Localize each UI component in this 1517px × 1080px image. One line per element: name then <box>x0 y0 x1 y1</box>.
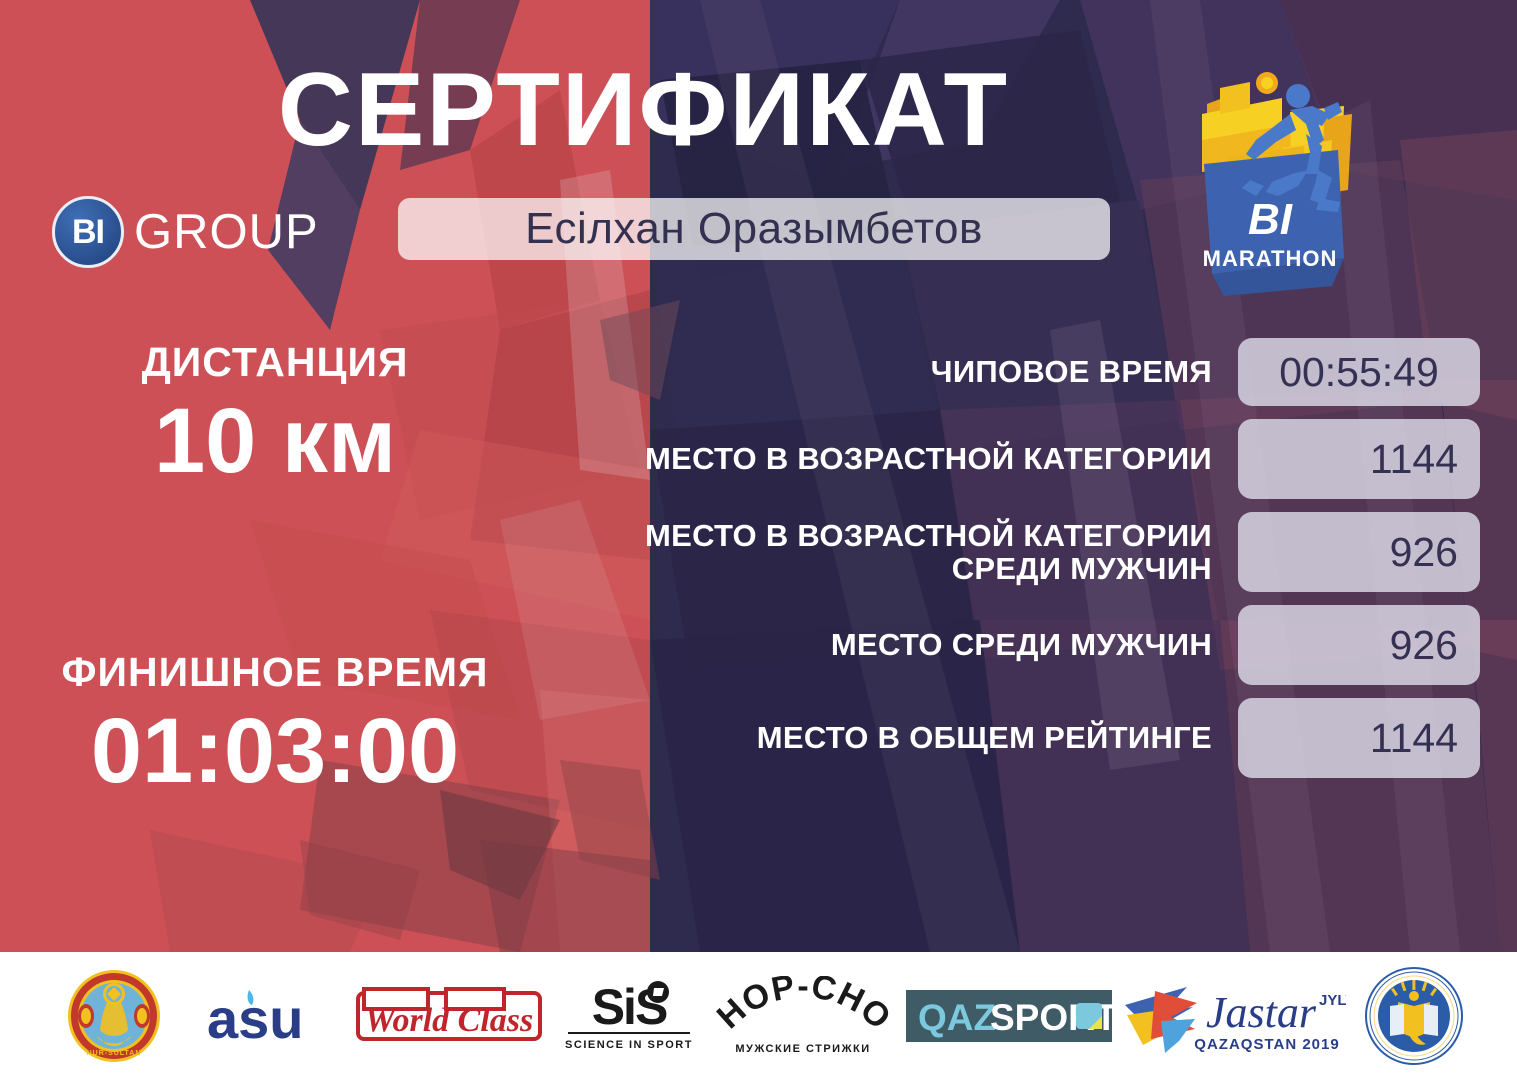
sponsor-logo-sis: SiS SCIENCE IN SPORT <box>549 966 709 1066</box>
result-label: МЕСТО СРЕДИ МУЖЧИН <box>600 628 1238 661</box>
finish-time-block: ФИНИШНОЕ ВРЕМЯ 01:03:00 <box>20 650 530 801</box>
result-value: 1144 <box>1238 419 1480 499</box>
result-value: 00:55:49 <box>1238 338 1480 406</box>
result-label: ЧИПОВОЕ ВРЕМЯ <box>600 355 1238 388</box>
chop-chop-text: CHOP-CHOP <box>711 976 896 1038</box>
distance-value: 10 км <box>20 392 530 491</box>
result-value: 926 <box>1238 512 1480 592</box>
bi-marathon-logo: BI MARATHON <box>1172 62 1372 302</box>
marathon-word-text: MARATHON <box>1203 246 1338 271</box>
jyly-text: JYLY <box>1319 992 1346 1009</box>
marathon-bi-text: BI <box>1248 195 1293 244</box>
distance-label: ДИСТАНЦИЯ <box>20 340 530 386</box>
asu-text: asu <box>207 987 304 1050</box>
chop-chop-subtitle: МУЖСКИЕ СТРИЖКИ <box>735 1043 870 1055</box>
world-class-text: World Class <box>364 1002 532 1039</box>
result-row-age-category-men-place: МЕСТО В ВОЗРАСТНОЙ КАТЕГОРИИ СРЕДИ МУЖЧИ… <box>600 512 1480 592</box>
qaz-text: QAZ <box>918 997 996 1038</box>
result-label: МЕСТО В ВОЗРАСТНОЙ КАТЕГОРИИ <box>600 442 1238 475</box>
jastar-text: Jastar <box>1206 988 1317 1037</box>
sis-subtitle: SCIENCE IN SPORT <box>565 1039 693 1051</box>
result-value: 926 <box>1238 605 1480 685</box>
sponsor-logo-jastar-jyly: Jastar JYLY QAZAQSTAN 2019 <box>1119 966 1349 1066</box>
finish-time-value: 01:03:00 <box>20 702 530 801</box>
sponsor-logo-asu: asu <box>189 966 349 1066</box>
bi-group-wordmark: GROUP <box>134 204 319 260</box>
sponsor-logo-nur-sultan: NUR-SULTAN <box>39 966 189 1066</box>
result-label: МЕСТО В ОБЩЕМ РЕЙТИНГЕ <box>600 721 1238 754</box>
sponsor-logo-world-class: World Class <box>349 966 549 1066</box>
result-row-men-place: МЕСТО СРЕДИ МУЖЧИН 926 <box>600 605 1480 685</box>
sponsor-logo-ministry-seal <box>1349 966 1479 1066</box>
jastar-subtitle: QAZAQSTAN 2019 <box>1194 1036 1339 1053</box>
bi-circle-icon: BI <box>52 196 124 268</box>
finish-time-label: ФИНИШНОЕ ВРЕМЯ <box>20 650 530 696</box>
participant-name-badge: Есілхан Оразымбетов <box>398 198 1110 260</box>
result-value: 1144 <box>1238 698 1480 778</box>
certificate-canvas: СЕРТИФИКАТ Есілхан Оразымбетов BI GROUP <box>0 0 1517 1080</box>
results-table: ЧИПОВОЕ ВРЕМЯ 00:55:49 МЕСТО В ВОЗРАСТНО… <box>600 338 1480 791</box>
sponsor-logo-qazsport: QAZ SPORT <box>899 966 1119 1066</box>
result-label: МЕСТО В ВОЗРАСТНОЙ КАТЕГОРИИ СРЕДИ МУЖЧИ… <box>600 519 1238 586</box>
result-row-overall-place: МЕСТО В ОБЩЕМ РЕЙТИНГЕ 1144 <box>600 698 1480 778</box>
bi-group-logo: BI GROUP <box>52 196 319 268</box>
result-row-chip-time: ЧИПОВОЕ ВРЕМЯ 00:55:49 <box>600 338 1480 406</box>
result-row-age-category-place: МЕСТО В ВОЗРАСТНОЙ КАТЕГОРИИ 1144 <box>600 419 1480 499</box>
sponsor-logo-chop-chop: CHOP-CHOP МУЖСКИЕ СТРИЖКИ <box>709 966 899 1066</box>
sponsor-bar: NUR-SULTAN asu World Class SiS <box>0 952 1517 1080</box>
distance-block: ДИСТАНЦИЯ 10 км <box>20 340 530 491</box>
nur-sultan-text: NUR-SULTAN <box>86 1050 141 1057</box>
